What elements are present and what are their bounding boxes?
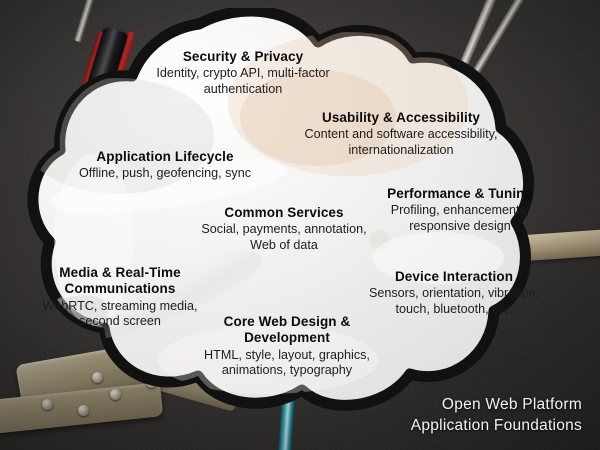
cloud-node-security: Security & Privacy Identity, crypto API,… <box>128 49 358 97</box>
caption-line-2: Application Foundations <box>411 416 582 436</box>
cloud-node-title: Performance & Tuning <box>364 186 556 202</box>
cloud-node-title: Common Services <box>198 205 370 221</box>
cloud-node-title: Device Interaction <box>356 269 552 285</box>
cloud-node-application-lifecycle: Application Lifecycle Offline, push, geo… <box>52 149 278 182</box>
poster-caption: Open Web Platform Application Foundation… <box>411 395 582 436</box>
cloud-node-description: Content and software accessibility, inte… <box>292 127 510 157</box>
cloud-node-usability: Usability & Accessibility Content and so… <box>292 110 510 158</box>
cloud-node-core-web-design: Core Web Design & Development HTML, styl… <box>186 314 388 378</box>
cloud-node-description: Sensors, orientation, vibration, touch, … <box>356 286 552 316</box>
caption-line-1: Open Web Platform <box>411 395 582 415</box>
cloud-node-title: Security & Privacy <box>128 49 358 65</box>
cloud-node-description: Social, payments, annotation, Web of dat… <box>198 222 370 252</box>
cloud-node-description: Offline, push, geofencing, sync <box>52 166 278 181</box>
cloud-node-description: Identity, crypto API, multi-factor authe… <box>128 66 358 96</box>
cloud-node-description: HTML, style, layout, graphics, animation… <box>186 348 388 378</box>
cloud-node-description: Profiling, enhancements, responsive desi… <box>364 203 556 233</box>
cloud-node-device-interaction: Device Interaction Sensors, orientation,… <box>356 269 552 317</box>
cloud-node-performance: Performance & Tuning Profiling, enhancem… <box>364 186 556 234</box>
cloud-node-common-services: Common Services Social, payments, annota… <box>198 205 370 253</box>
cloud-node-title: Usability & Accessibility <box>292 110 510 126</box>
poster-image: Security & Privacy Identity, crypto API,… <box>0 0 600 450</box>
cloud-node-title: Application Lifecycle <box>52 149 278 165</box>
cloud-node-title: Core Web Design & Development <box>186 314 388 347</box>
cloud-node-title: Media & Real-Time Communications <box>24 265 216 298</box>
